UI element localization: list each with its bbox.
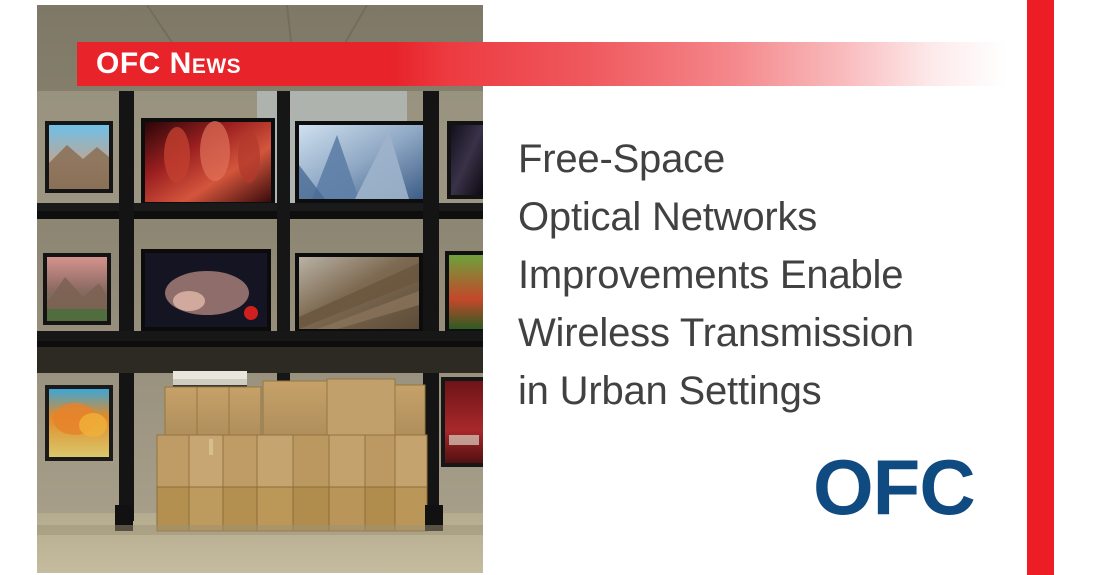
ofc-logo-text: OFC	[813, 452, 975, 524]
right-red-accent-stripe	[1027, 0, 1054, 575]
headline-line-3: Improvements Enable	[518, 246, 1018, 304]
lab-monitors-photo	[37, 5, 483, 573]
news-banner-label: OFC News	[96, 42, 241, 86]
photo-illustration	[37, 5, 483, 573]
ofc-logo: OFC	[813, 452, 981, 524]
ofc-news-graphic-card: OFC News Free-Space Optical Networks Imp…	[0, 0, 1100, 575]
ofc-logo-mark: OFC	[813, 452, 981, 524]
headline-line-5: in Urban Settings	[518, 362, 1018, 420]
headline-line-1: Free-Space	[518, 130, 1018, 188]
headline: Free-Space Optical Networks Improvements…	[518, 130, 1018, 420]
headline-line-2: Optical Networks	[518, 188, 1018, 246]
headline-line-4: Wireless Transmission	[518, 304, 1018, 362]
